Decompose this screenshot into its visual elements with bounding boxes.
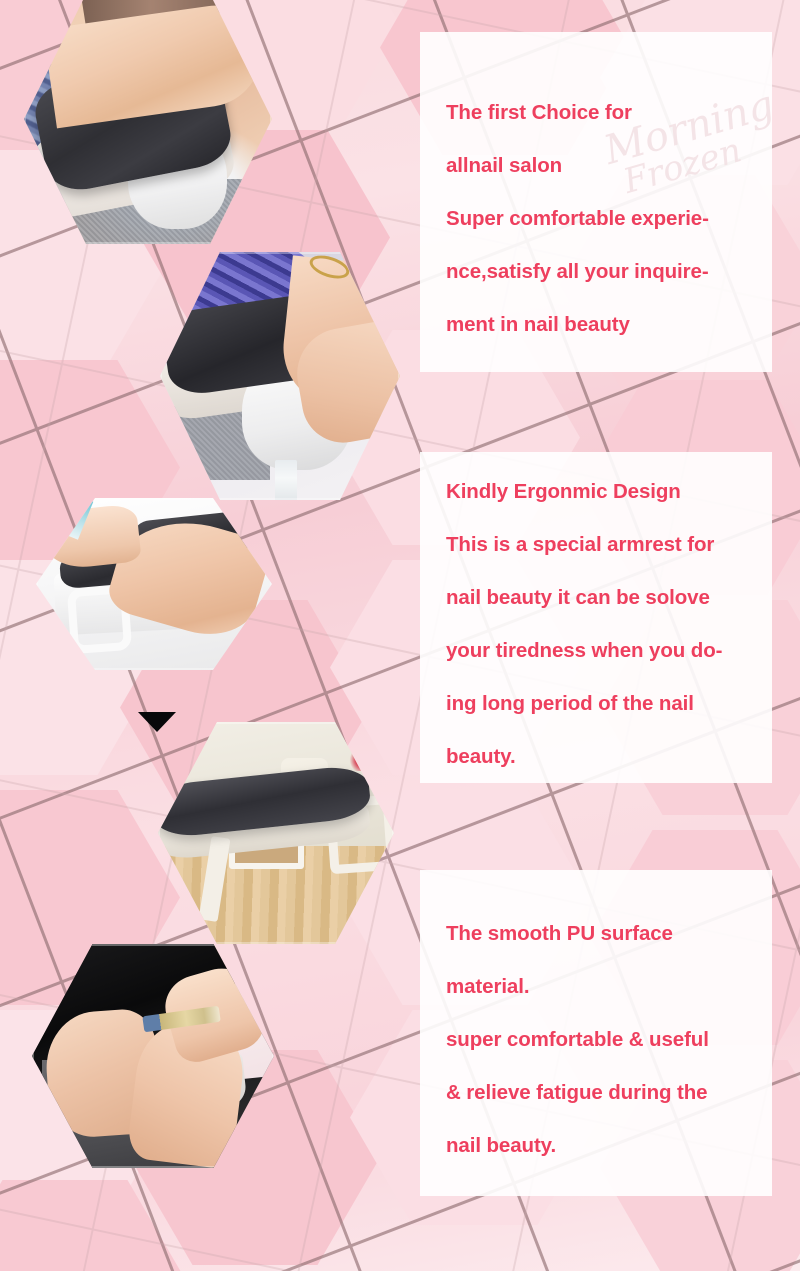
card1-line-2: allnail salon [446, 156, 562, 177]
card-pu-surface: The smooth PU surface material. super co… [420, 870, 772, 1196]
card2-line-3: nail beauty it can be solove [446, 588, 710, 609]
selection-triangle-marker [138, 712, 176, 732]
card-ergonomic-design: Kindly Ergonmic Design This is a special… [420, 452, 772, 783]
card2-line-6: beauty. [446, 747, 516, 768]
card3-line-3: super comfortable & useful [446, 1030, 709, 1051]
card2-line-1: Kindly Ergonmic Design [446, 482, 681, 503]
card1-line-4: nce,satisfy all your inquire- [446, 262, 709, 283]
card1-line-1: The first Choice for [446, 103, 632, 124]
card-first-choice: The first Choice for allnail salon Super… [420, 32, 772, 372]
card1-line-3: Super comfortable experie- [446, 209, 709, 230]
card2-line-5: ing long period of the nail [446, 694, 694, 715]
card1-line-5: ment in nail beauty [446, 315, 630, 336]
card3-line-2: material. [446, 977, 529, 998]
card3-line-4: & relieve fatigue during the [446, 1083, 707, 1104]
card3-line-5: nail beauty. [446, 1136, 556, 1157]
banner-canvas: Morning Frozen The first Choice for alln… [0, 0, 800, 1271]
card3-line-1: The smooth PU surface [446, 924, 673, 945]
card2-line-2: This is a special armrest for [446, 535, 714, 556]
card2-line-4: your tiredness when you do- [446, 641, 722, 662]
